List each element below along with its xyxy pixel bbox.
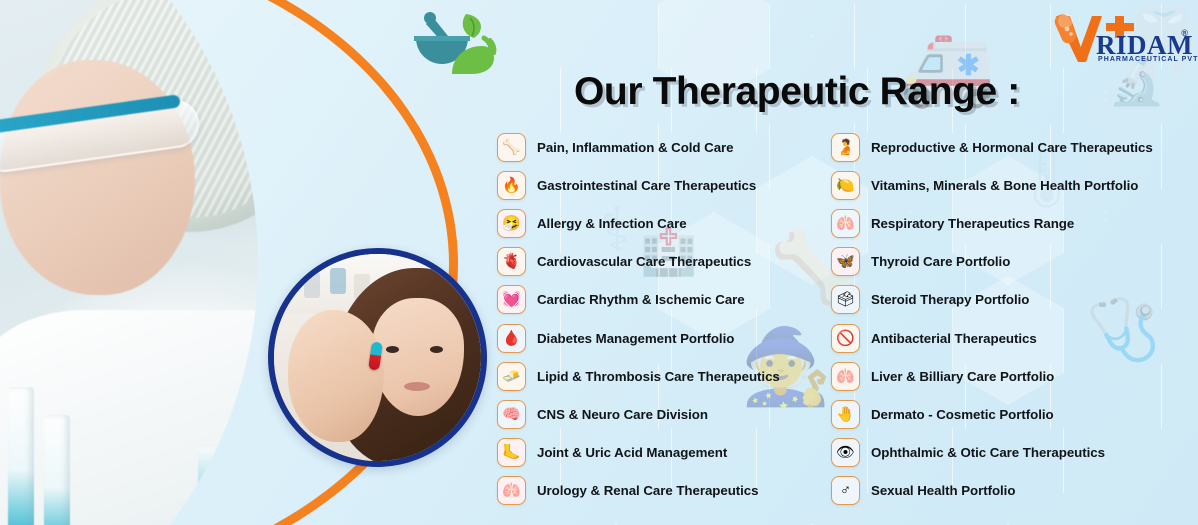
icon-glyph: 🦋 — [836, 254, 855, 269]
therapeutic-item[interactable]: 🫁Liver & Billiary Care Portfolio — [831, 357, 1189, 395]
therapeutic-item-label: Reproductive & Hormonal Care Therapeutic… — [871, 140, 1153, 155]
therapeutic-range-banner: 🚑 🦴 🧙 🌡 ⚕ 🏥 🩺 🦷 🔬 — [0, 0, 1198, 525]
therapeutic-item-label: Antibacterial Therapeutics — [871, 331, 1037, 346]
eye — [386, 346, 399, 353]
icon-glyph: 👁 — [836, 445, 855, 460]
medicine-bottle-icon: 🗳 — [831, 285, 860, 314]
liver-icon: 🫁 — [831, 362, 860, 391]
stomach-icon: 🔥 — [497, 171, 526, 200]
therapeutic-item-label: Vitamins, Minerals & Bone Health Portfol… — [871, 178, 1138, 193]
brain-icon: 🧠 — [497, 400, 526, 429]
page-title: Our Therapeutic Range : — [574, 70, 1020, 114]
therapeutic-item[interactable]: 🗳Steroid Therapy Portfolio — [831, 281, 1189, 319]
lips — [404, 382, 430, 391]
kidney-icon: 🫁 — [497, 476, 526, 505]
therapeutic-item-label: Gastrointestinal Care Therapeutics — [537, 178, 756, 193]
therapeutic-item-label: Respiratory Therapeutics Range — [871, 216, 1074, 231]
therapeutic-item[interactable]: 🩸Diabetes Management Portfolio — [497, 319, 797, 357]
blood-vessel-lipid-icon: 🧈 — [497, 362, 526, 391]
hand — [288, 310, 384, 442]
icon-glyph: 🍋 — [836, 178, 855, 193]
therapeutic-left-column: 🦴Pain, Inflammation & Cold Care🔥Gastroin… — [497, 128, 797, 510]
therapeutic-item-label: Sexual Health Portfolio — [871, 483, 1015, 498]
therapeutic-right-column: 🫄Reproductive & Hormonal Care Therapeuti… — [831, 128, 1189, 510]
therapeutic-item-label: Joint & Uric Acid Management — [537, 445, 727, 460]
icon-glyph: ♂ — [840, 483, 851, 498]
icon-glyph: 🤧 — [502, 216, 521, 231]
eye-dropper-icon: 👁 — [831, 438, 860, 467]
therapeutic-item-label: Urology & Renal Care Therapeutics — [537, 483, 759, 498]
therapeutic-item-label: Thyroid Care Portfolio — [871, 254, 1010, 269]
icon-glyph: 🫁 — [836, 369, 855, 384]
therapeutic-item[interactable]: ♂Sexual Health Portfolio — [831, 472, 1189, 510]
therapeutic-item-label: Cardiac Rhythm & Ischemic Care — [537, 292, 745, 307]
therapeutic-item[interactable]: 🍋Vitamins, Minerals & Bone Health Portfo… — [831, 166, 1189, 204]
therapeutic-item-label: Liver & Billiary Care Portfolio — [871, 369, 1054, 384]
registered-mark: ® — [1181, 28, 1188, 38]
therapeutic-item-label: Diabetes Management Portfolio — [537, 331, 734, 346]
therapeutic-item[interactable]: 🔥Gastrointestinal Care Therapeutics — [497, 166, 797, 204]
icon-glyph: 🤚 — [836, 407, 855, 422]
therapeutic-item-label: Pain, Inflammation & Cold Care — [537, 140, 734, 155]
icon-glyph: 💓 — [502, 292, 521, 307]
icon-glyph: 🧠 — [502, 407, 521, 422]
icon-glyph: 🩸 — [502, 331, 521, 346]
thyroid-gland-icon: 🦋 — [831, 247, 860, 276]
therapeutic-item-label: Allergy & Infection Care — [537, 216, 687, 231]
lungs-icon: 🫁 — [831, 209, 860, 238]
icon-glyph: 🧈 — [502, 369, 521, 384]
therapeutic-item[interactable]: 🫁Urology & Renal Care Therapeutics — [497, 472, 797, 510]
therapeutic-item-label: Dermato - Cosmetic Portfolio — [871, 407, 1054, 422]
icon-glyph: 🫁 — [836, 216, 855, 231]
mortar-pestle-leaf-hand-icon — [404, 8, 500, 78]
pregnancy-icon: 🫄 — [831, 133, 860, 162]
therapeutic-item[interactable]: 🤧Allergy & Infection Care — [497, 204, 797, 242]
icon-glyph: 🚫 — [836, 331, 855, 346]
foot-gout-icon: 🦶 — [497, 438, 526, 467]
therapeutic-item[interactable]: 👁Ophthalmic & Otic Care Therapeutics — [831, 434, 1189, 472]
therapeutic-item[interactable]: 🫄Reproductive & Hormonal Care Therapeuti… — [831, 128, 1189, 166]
therapeutic-item[interactable]: 🧈Lipid & Thrombosis Care Therapeutics — [497, 357, 797, 395]
therapeutic-item-label: Steroid Therapy Portfolio — [871, 292, 1029, 307]
heartbeat-icon: 💓 — [497, 285, 526, 314]
therapeutic-item[interactable]: 🫀Cardiovascular Care Therapeutics — [497, 243, 797, 281]
no-bacteria-icon: 🚫 — [831, 324, 860, 353]
icon-glyph: 🔥 — [502, 178, 521, 193]
icon-glyph: 🫀 — [502, 254, 521, 269]
skin-hand-icon: 🤚 — [831, 400, 860, 429]
icon-glyph: 🫄 — [836, 140, 855, 155]
therapeutic-item[interactable]: 🧠CNS & Neuro Care Division — [497, 395, 797, 433]
therapeutic-item-label: Lipid & Thrombosis Care Therapeutics — [537, 369, 780, 384]
therapeutic-item[interactable]: 🚫Antibacterial Therapeutics — [831, 319, 1189, 357]
allergy-rash-icon: 🤧 — [497, 209, 526, 238]
icon-glyph: 🦴 — [502, 140, 521, 155]
therapeutic-item-label: CNS & Neuro Care Division — [537, 407, 708, 422]
logo-tagline: PHARMACEUTICAL PVT LTD — [1098, 56, 1198, 63]
therapeutic-item[interactable]: 🦋Thyroid Care Portfolio — [831, 243, 1189, 281]
vitamin-capsule-icon: 🍋 — [831, 171, 860, 200]
icon-glyph: 🦶 — [502, 445, 521, 460]
joint-pain-icon: 🦴 — [497, 133, 526, 162]
therapeutic-range-columns: 🦴Pain, Inflammation & Cold Care🔥Gastroin… — [497, 128, 1189, 510]
therapeutic-item[interactable]: 💓Cardiac Rhythm & Ischemic Care — [497, 281, 797, 319]
therapeutic-item-label: Ophthalmic & Otic Care Therapeutics — [871, 445, 1105, 460]
pharmacist-holding-capsule-photo — [268, 248, 487, 467]
blood-glucose-icon: 🩸 — [497, 324, 526, 353]
therapeutic-item[interactable]: 🫁Respiratory Therapeutics Range — [831, 204, 1189, 242]
icon-glyph: 🫁 — [502, 483, 521, 498]
therapeutic-item[interactable]: 🦴Pain, Inflammation & Cold Care — [497, 128, 797, 166]
therapeutic-item-label: Cardiovascular Care Therapeutics — [537, 254, 751, 269]
therapeutic-item[interactable]: 🦶Joint & Uric Acid Management — [497, 434, 797, 472]
male-reproductive-icon: ♂ — [831, 476, 860, 505]
therapeutic-item[interactable]: 🤚Dermato - Cosmetic Portfolio — [831, 395, 1189, 433]
anatomical-heart-icon: 🫀 — [497, 247, 526, 276]
brand-logo[interactable]: RIDAM ® PHARMACEUTICAL PVT LTD — [1052, 8, 1188, 70]
eye — [430, 346, 443, 353]
icon-glyph: 🗳 — [836, 292, 855, 307]
